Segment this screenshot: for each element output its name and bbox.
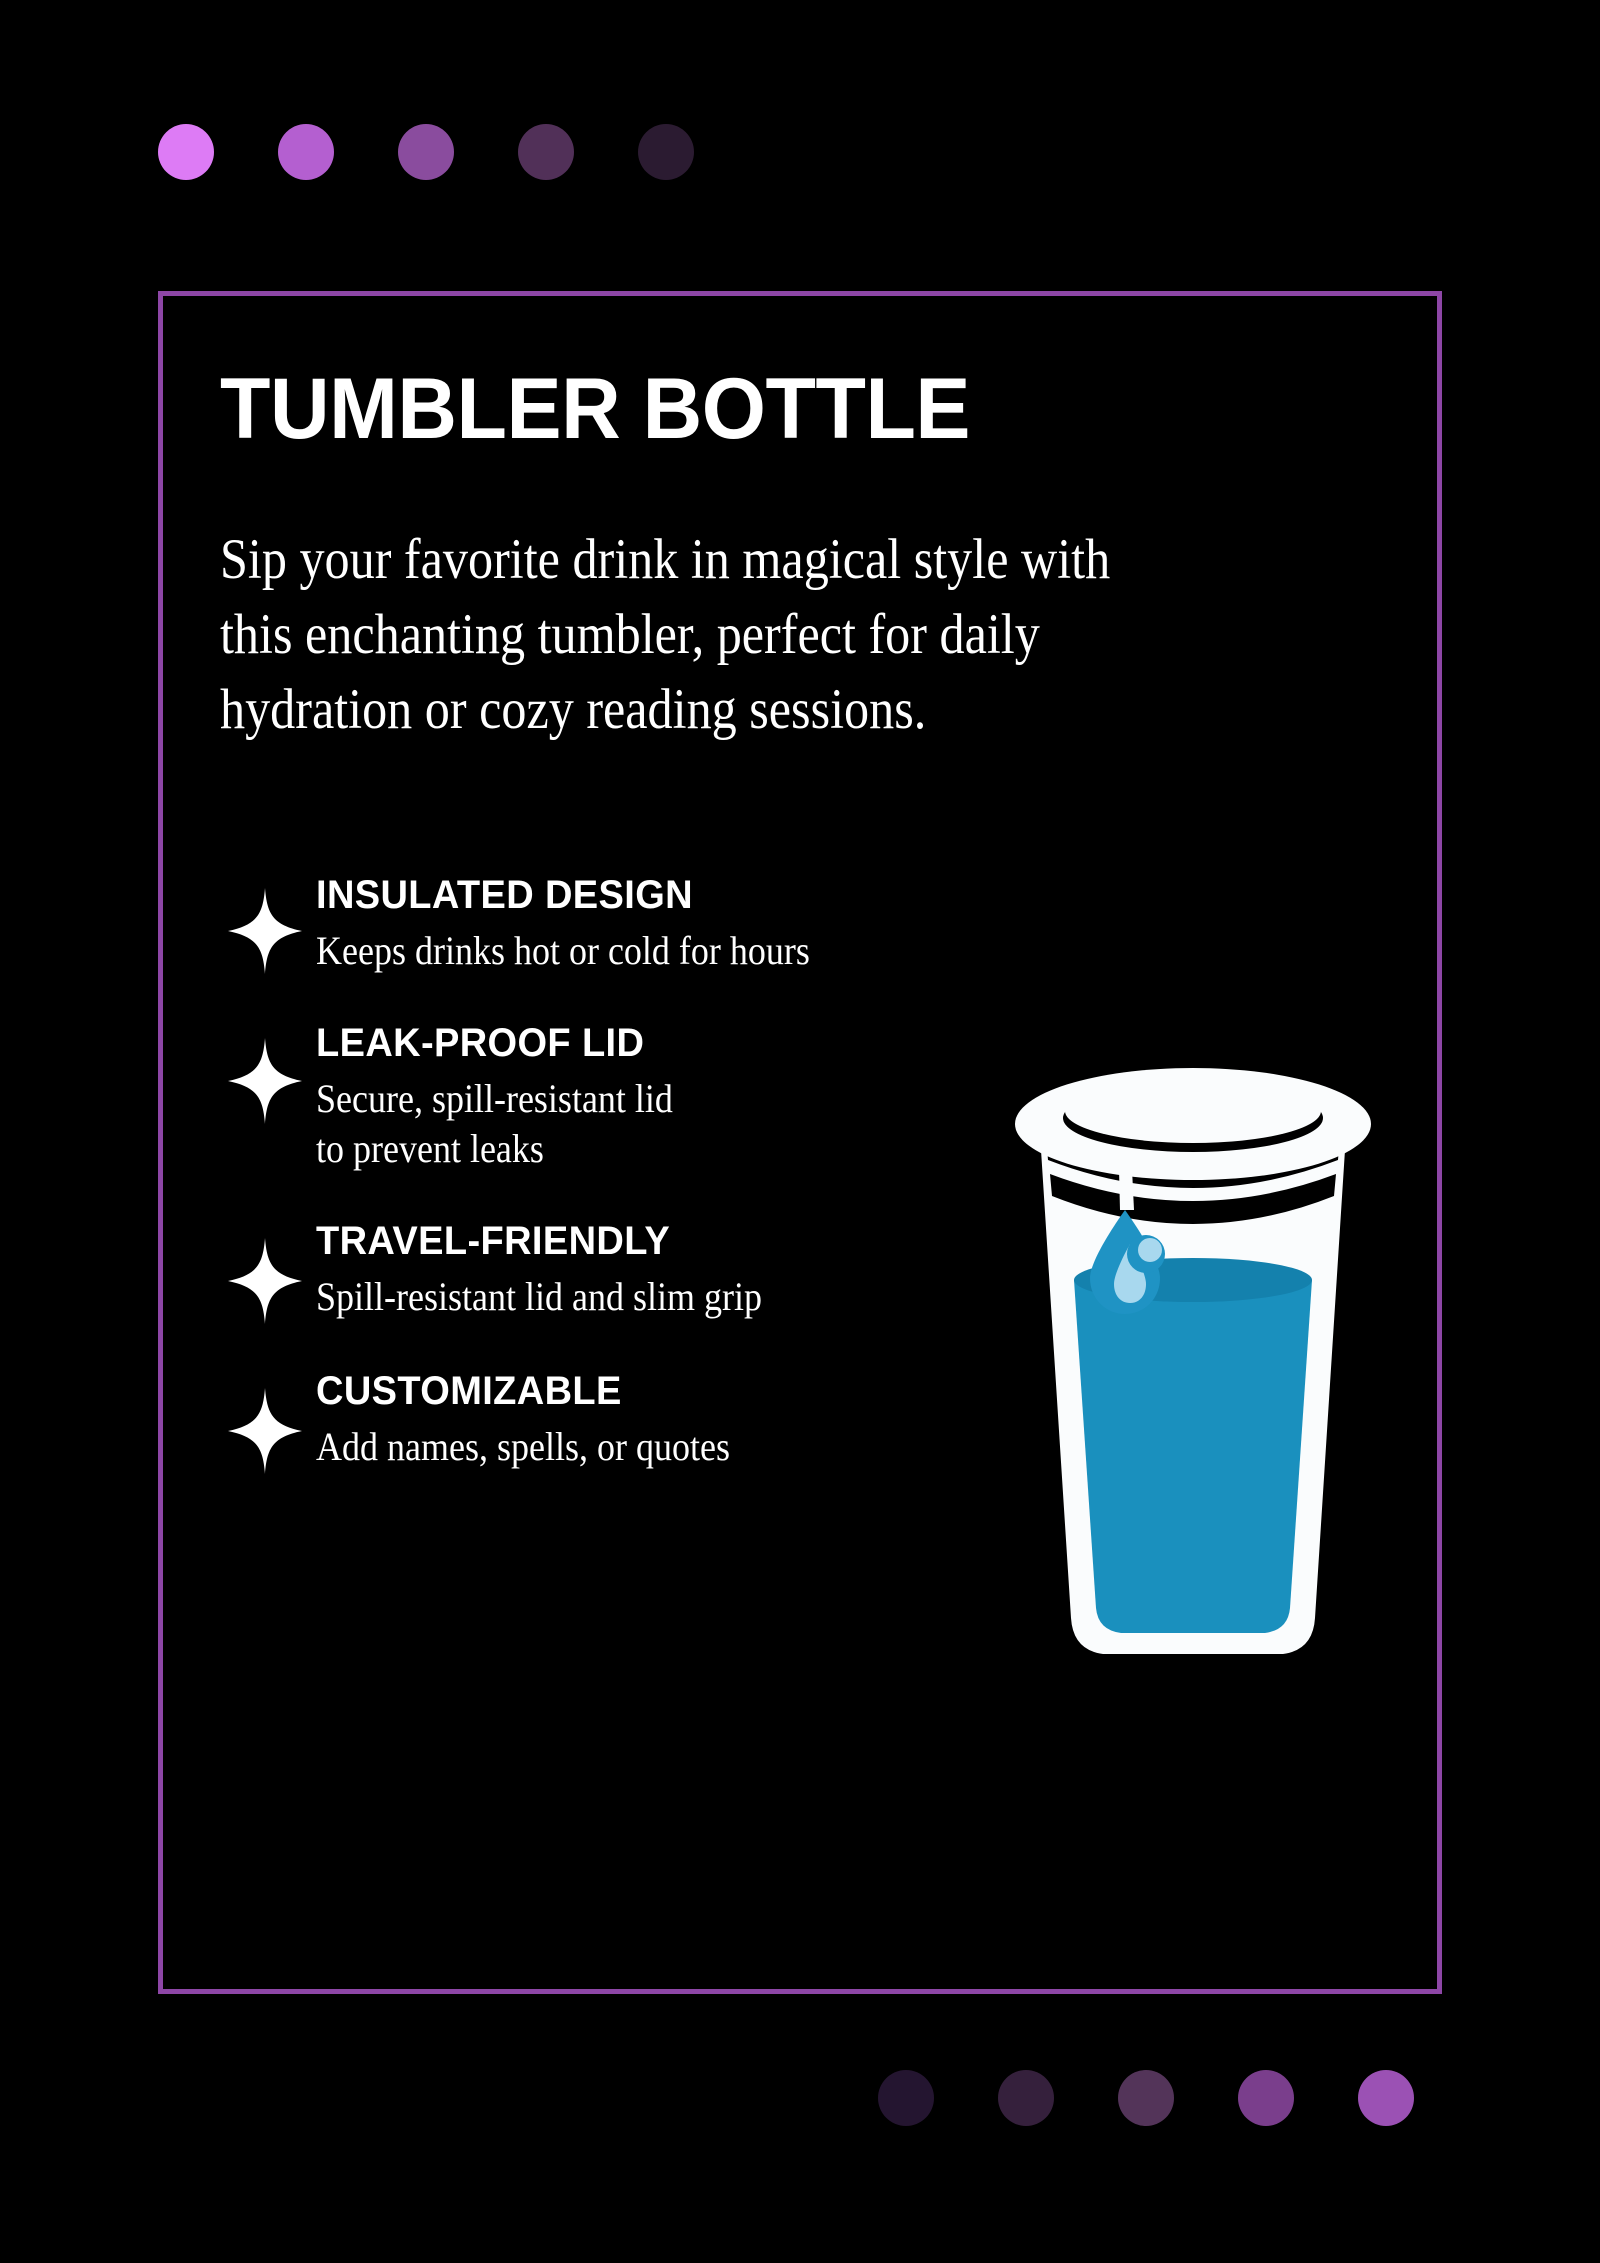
sparkle-icon — [228, 888, 302, 974]
decor-dot-5 — [1358, 2070, 1414, 2126]
feature-description: Secure, spill-resistant lid to prevent l… — [316, 1074, 673, 1174]
decor-dot-1 — [158, 124, 214, 180]
sparkle-icon — [228, 1238, 302, 1324]
intro-line-2: this enchanting tumbler, perfect for dai… — [220, 597, 1232, 672]
page-title: TUMBLER BOTTLE — [220, 366, 970, 452]
feature-title: TRAVEL-FRIENDLY — [316, 1216, 787, 1266]
feature-description: Keeps drinks hot or cold for hours — [316, 926, 810, 976]
decor-dot-3 — [1118, 2070, 1174, 2126]
feature-text: TRAVEL-FRIENDLY Spill-resistant lid and … — [316, 1216, 812, 1322]
tumbler-graphic — [978, 1058, 1408, 1688]
feature-desc-line: to prevent leaks — [316, 1124, 673, 1174]
feature-text: INSULATED DESIGN Keeps drinks hot or col… — [316, 870, 865, 976]
feature-item-customizable: CUSTOMIZABLE Add names, spells, or quote… — [228, 1366, 988, 1474]
intro-line-3: hydration or cozy reading sessions. — [220, 672, 1232, 747]
decor-dot-2 — [278, 124, 334, 180]
bottom-dot-row — [878, 2070, 1414, 2126]
intro-line-1: Sip your favorite drink in magical style… — [220, 522, 1232, 597]
feature-title: INSULATED DESIGN — [316, 870, 837, 920]
feature-description: Spill-resistant lid and slim grip — [316, 1272, 762, 1322]
feature-text: CUSTOMIZABLE Add names, spells, or quote… — [316, 1366, 776, 1472]
decor-dot-4 — [1238, 2070, 1294, 2126]
feature-desc-line: Add names, spells, or quotes — [316, 1422, 730, 1472]
feature-desc-line: Spill-resistant lid and slim grip — [316, 1272, 762, 1322]
decor-dot-1 — [878, 2070, 934, 2126]
decor-dot-2 — [998, 2070, 1054, 2126]
feature-item-leak-proof-lid: LEAK-PROOF LID Secure, spill-resistant l… — [228, 1018, 988, 1174]
lid-inner-face — [1065, 1079, 1321, 1143]
top-dot-row — [158, 124, 694, 180]
intro-paragraph: Sip your favorite drink in magical style… — [220, 522, 1232, 747]
feature-item-travel-friendly: TRAVEL-FRIENDLY Spill-resistant lid and … — [228, 1216, 988, 1324]
bubble-highlight — [1138, 1238, 1162, 1262]
tumbler-liquid — [1074, 1280, 1312, 1633]
feature-title: CUSTOMIZABLE — [316, 1366, 753, 1416]
decor-dot-3 — [398, 124, 454, 180]
feature-text: LEAK-PROOF LID Secure, spill-resistant l… — [316, 1018, 713, 1174]
feature-item-insulated-design: INSULATED DESIGN Keeps drinks hot or col… — [228, 870, 988, 976]
feature-desc-line: Secure, spill-resistant lid — [316, 1074, 673, 1124]
sparkle-icon — [228, 1038, 302, 1124]
tumbler-bottle-illustration — [978, 1058, 1408, 1688]
poster-root: TUMBLER BOTTLE Sip your favorite drink i… — [0, 0, 1600, 2263]
feature-list: INSULATED DESIGN Keeps drinks hot or col… — [228, 870, 988, 1474]
decor-dot-4 — [518, 124, 574, 180]
sparkle-icon — [228, 1388, 302, 1474]
feature-desc-line: Keeps drinks hot or cold for hours — [316, 926, 810, 976]
feature-description: Add names, spells, or quotes — [316, 1422, 730, 1472]
decor-dot-5 — [638, 124, 694, 180]
feature-title: LEAK-PROOF LID — [316, 1018, 693, 1068]
